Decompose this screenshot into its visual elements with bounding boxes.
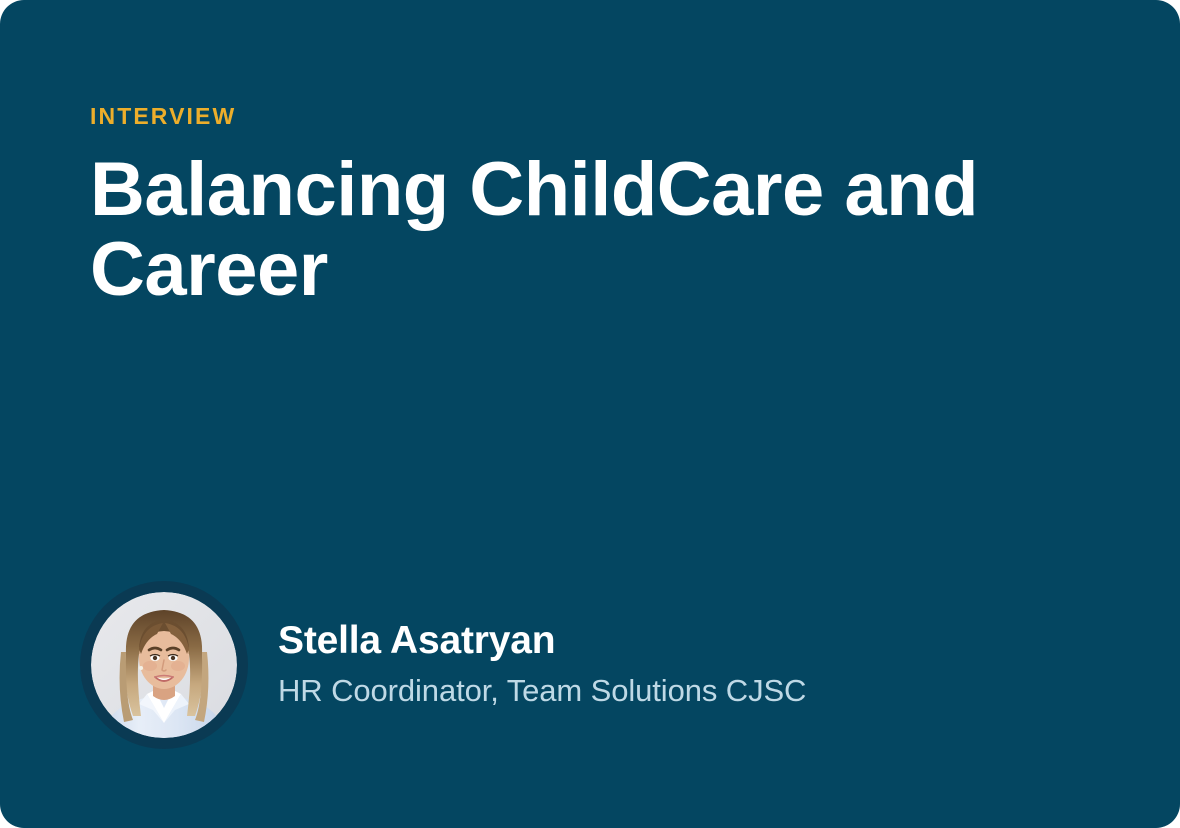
avatar-photo bbox=[91, 592, 237, 738]
author-name: Stella Asatryan bbox=[278, 617, 806, 665]
person-portrait-photo-icon bbox=[91, 592, 237, 738]
category-eyebrow-label: INTERVIEW bbox=[90, 101, 236, 131]
interview-quote-card: INTERVIEW Balancing ChildCare and Career bbox=[0, 0, 1180, 828]
author-text: Stella Asatryan HR Coordinator, Team Sol… bbox=[278, 617, 806, 714]
avatar bbox=[80, 581, 248, 749]
author-block: Stella Asatryan HR Coordinator, Team Sol… bbox=[80, 581, 806, 749]
author-role: HR Coordinator, Team Solutions CJSC bbox=[278, 672, 806, 710]
page-title: Balancing ChildCare and Career bbox=[90, 150, 990, 310]
